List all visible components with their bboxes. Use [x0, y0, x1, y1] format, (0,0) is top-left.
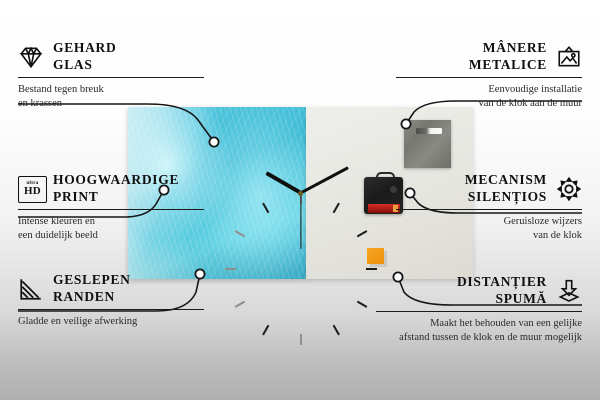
feature-title: GESLEPEN RANDEN	[53, 272, 131, 306]
clock-tick	[234, 230, 245, 237]
clock-tick	[332, 325, 339, 336]
diamond-icon	[18, 44, 44, 70]
clock-tick	[262, 203, 269, 214]
clock-dial	[128, 107, 473, 279]
clock-tick	[234, 301, 245, 308]
clock-tick	[356, 301, 367, 308]
clock-tick	[356, 230, 367, 237]
clock-tick	[300, 334, 302, 345]
divider	[18, 309, 204, 310]
clock-hour-hand	[265, 171, 302, 194]
ultra-hd-icon: ultra HD	[18, 176, 44, 202]
picture-frame-icon	[556, 44, 582, 70]
feature-subtitle: Gladde en veilige afwerking	[18, 315, 204, 329]
feature-geslepen-randen: GESLEPEN RANDEN Gladde en veilige afwerk…	[18, 272, 204, 329]
diagonal-lines-icon	[18, 276, 44, 302]
divider	[396, 77, 582, 78]
product-photo	[128, 107, 473, 279]
feature-title: GEHARD GLAS	[53, 40, 116, 74]
feature-title: MECANISM SILENȚIOS	[465, 172, 547, 206]
feature-gehard-glas: GEHARD GLAS Bestand tegen breuk en krass…	[18, 40, 204, 111]
clock-second-hand	[300, 193, 301, 249]
clock-tick	[262, 325, 269, 336]
clock-minute-hand	[300, 166, 349, 194]
divider	[18, 77, 204, 78]
infographic-canvas: GEHARD GLAS Bestand tegen breuk en krass…	[0, 0, 600, 400]
feature-title: MÂNERE METALICE	[469, 40, 547, 74]
divider	[376, 311, 582, 312]
feature-distantier-spuma: DISTANȚIER SPUMĂ Maakt het behouden van …	[376, 274, 582, 345]
clock-center-pivot	[298, 191, 303, 196]
feature-manere-metalice: MÂNERE METALICE Eenvoudige installatie v…	[396, 40, 582, 111]
gear-icon	[556, 176, 582, 202]
feature-title: DISTANȚIER SPUMĂ	[457, 274, 547, 308]
feature-subtitle: Maakt het behouden van een gelijke afsta…	[376, 317, 582, 345]
ultra-hd-icon-main: HD	[24, 186, 41, 197]
clock-tick	[225, 268, 236, 270]
clock-tick	[366, 268, 377, 270]
download-tray-icon	[556, 278, 582, 304]
clock-tick	[332, 203, 339, 214]
